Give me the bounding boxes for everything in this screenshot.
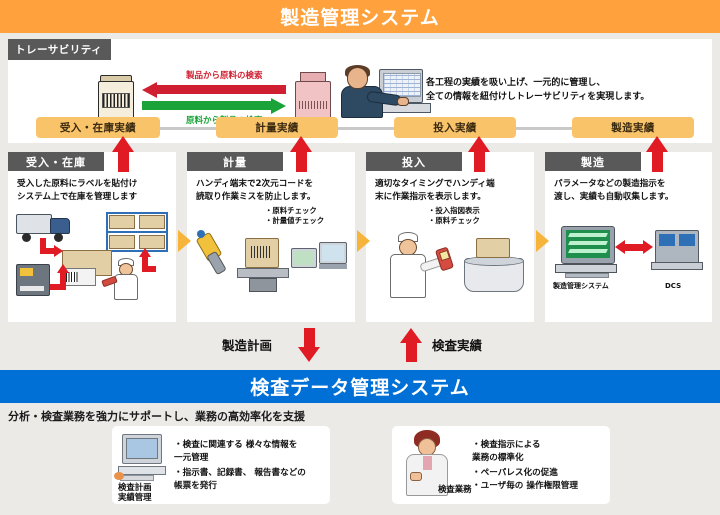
process-box-manufacturing[interactable]: 製造 パラメータなどの製造指示を 渡し、実績も自動収集します。 製造管理システム… — [545, 152, 712, 322]
process-desc-weighing: ハンディ端末で2次元コードを 読取り作業ミスを防止します。 — [196, 178, 348, 204]
process-box-charging[interactable]: 投入 適切なタイミングでハンディ端 末に作業指示を表示します。 ・投入指図表示 … — [366, 152, 534, 322]
traceability-description-line1: 各工程の実績を吸い上げ、一元的に管理し、 — [426, 77, 605, 91]
traceability-panel: トレーサビリティ 製品から原料の検索 原料から製品の検索 — [8, 39, 712, 143]
inspection-bullet-planning-4: 帳票を発行 — [174, 480, 217, 494]
process-art-receiving-inventory — [14, 208, 170, 318]
up-arrow-weighing — [290, 136, 312, 172]
pc-keyboard-icon — [120, 475, 154, 481]
chip-link-1 — [160, 127, 216, 130]
inspection-card-operations[interactable]: 検査業務 ・検査指示による 業務の標準化 ・ペーパレス化の促進 ・ユーザ毎の 操… — [392, 426, 610, 504]
up-arrow-charging — [468, 136, 490, 172]
inspection-bullet-planning-3: ・指示書、記録書、 報告書などの — [174, 467, 306, 481]
inspection-bullet-operations-2: 業務の標準化 — [472, 452, 524, 466]
chip-link-2 — [338, 127, 394, 130]
process-art-charging — [372, 208, 528, 318]
inspection-subtitle: 分析・検査業務を強力にサポートし、業務の高効率化を支援 — [8, 408, 305, 424]
inspection-result-arrow — [400, 328, 422, 362]
process-desc-receiving-inventory: 受入した原料にラベルを貼付け システム上で在庫を管理します — [17, 178, 169, 204]
inspection-bullet-planning-2: 一元管理 — [174, 452, 208, 466]
traceability-body: 製品から原料の検索 原料から製品の検索 各工程の実績を吸い上げ、一元的に管理し、… — [8, 59, 712, 143]
process-desc-manufacturing: パラメータなどの製造指示を 渡し、実績も自動収集します。 — [554, 178, 705, 204]
material-to-product-arrow — [142, 101, 286, 110]
production-plan-arrow — [298, 328, 320, 362]
process-art-weighing — [193, 208, 349, 318]
chip-receiving-inventory-result[interactable]: 受入・在庫実績 — [36, 117, 160, 138]
inspection-system-title: 検査データ管理システム — [0, 370, 720, 403]
process-box-receiving-inventory[interactable]: 受入・在庫 受入した原料にラベルを貼付け システム上で在庫を管理します — [8, 152, 176, 322]
process-tab-receiving-inventory: 受入・在庫 — [8, 152, 104, 171]
process-art-manufacturing: 製造管理システム DCS — [551, 208, 706, 318]
product-to-material-arrow — [142, 85, 286, 94]
traceability-tag: トレーサビリティ — [8, 39, 111, 60]
raw-material-sack-icon — [96, 73, 136, 121]
connector-triangle-2 — [357, 230, 370, 252]
finished-product-bag-icon — [293, 71, 333, 123]
connector-triangle-3 — [536, 230, 549, 252]
chip-charging-result[interactable]: 投入実績 — [394, 117, 516, 138]
inspection-card-caption-planning-2: 実績管理 — [118, 492, 152, 503]
inspection-bullet-operations-1: ・検査指示による — [472, 439, 541, 453]
up-arrow-manufacturing — [646, 136, 668, 172]
process-box-weighing[interactable]: 計量 ハンディ端末で2次元コードを 読取り作業ミスを防止します。 ・原料チェック… — [187, 152, 355, 322]
chip-weighing-result[interactable]: 計量実績 — [216, 117, 338, 138]
process-tab-manufacturing: 製造 — [545, 152, 641, 171]
traceability-description-line2: 全ての情報を紐付けしトレーサビリティを実現します。 — [426, 91, 649, 105]
pc-hand-icon — [114, 472, 124, 480]
chip-manufacturing-result[interactable]: 製造実績 — [572, 117, 694, 138]
process-desc-charging: 適切なタイミングでハンディ端 末に作業指示を表示します。 — [375, 178, 527, 204]
process-tab-charging: 投入 — [366, 152, 462, 171]
production-plan-label: 製造計画 — [222, 335, 272, 354]
caption-mes: 製造管理システム — [553, 282, 609, 291]
connector-triangle-1 — [178, 230, 191, 252]
inspection-bullet-operations-4: ・ユーザ毎の 操作権限管理 — [472, 480, 578, 494]
process-boxes-row: 受入・在庫 受入した原料にラベルを貼付け システム上で在庫を管理します — [8, 152, 712, 322]
inspector-inner-shirt-icon — [423, 456, 432, 470]
chip-link-3 — [516, 127, 572, 130]
process-tab-weighing: 計量 — [187, 152, 283, 171]
inspection-card-caption-operations: 検査業務 — [438, 484, 472, 495]
inspection-bullet-operations-3: ・ペーパレス化の促進 — [472, 467, 558, 481]
middle-connector-band: 製造計画 検査実績 — [0, 326, 720, 370]
inspection-bullet-planning-1: ・検査に関連する 様々な情報を — [174, 439, 297, 453]
inspector-hand-icon — [410, 472, 422, 481]
inspection-card-planning[interactable]: 検査計画 実績管理 ・検査に関連する 様々な情報を 一元管理 ・指示書、記録書、… — [112, 426, 330, 504]
product-to-material-label: 製品から原料の検索 — [186, 69, 263, 81]
up-arrow-receiving — [112, 136, 134, 172]
page-title: 製造管理システム — [0, 0, 720, 33]
inspection-result-label: 検査実績 — [432, 335, 482, 354]
pc-screen-icon — [126, 438, 158, 459]
caption-dcs: DCS — [665, 282, 681, 291]
pc-base-icon — [118, 466, 166, 475]
